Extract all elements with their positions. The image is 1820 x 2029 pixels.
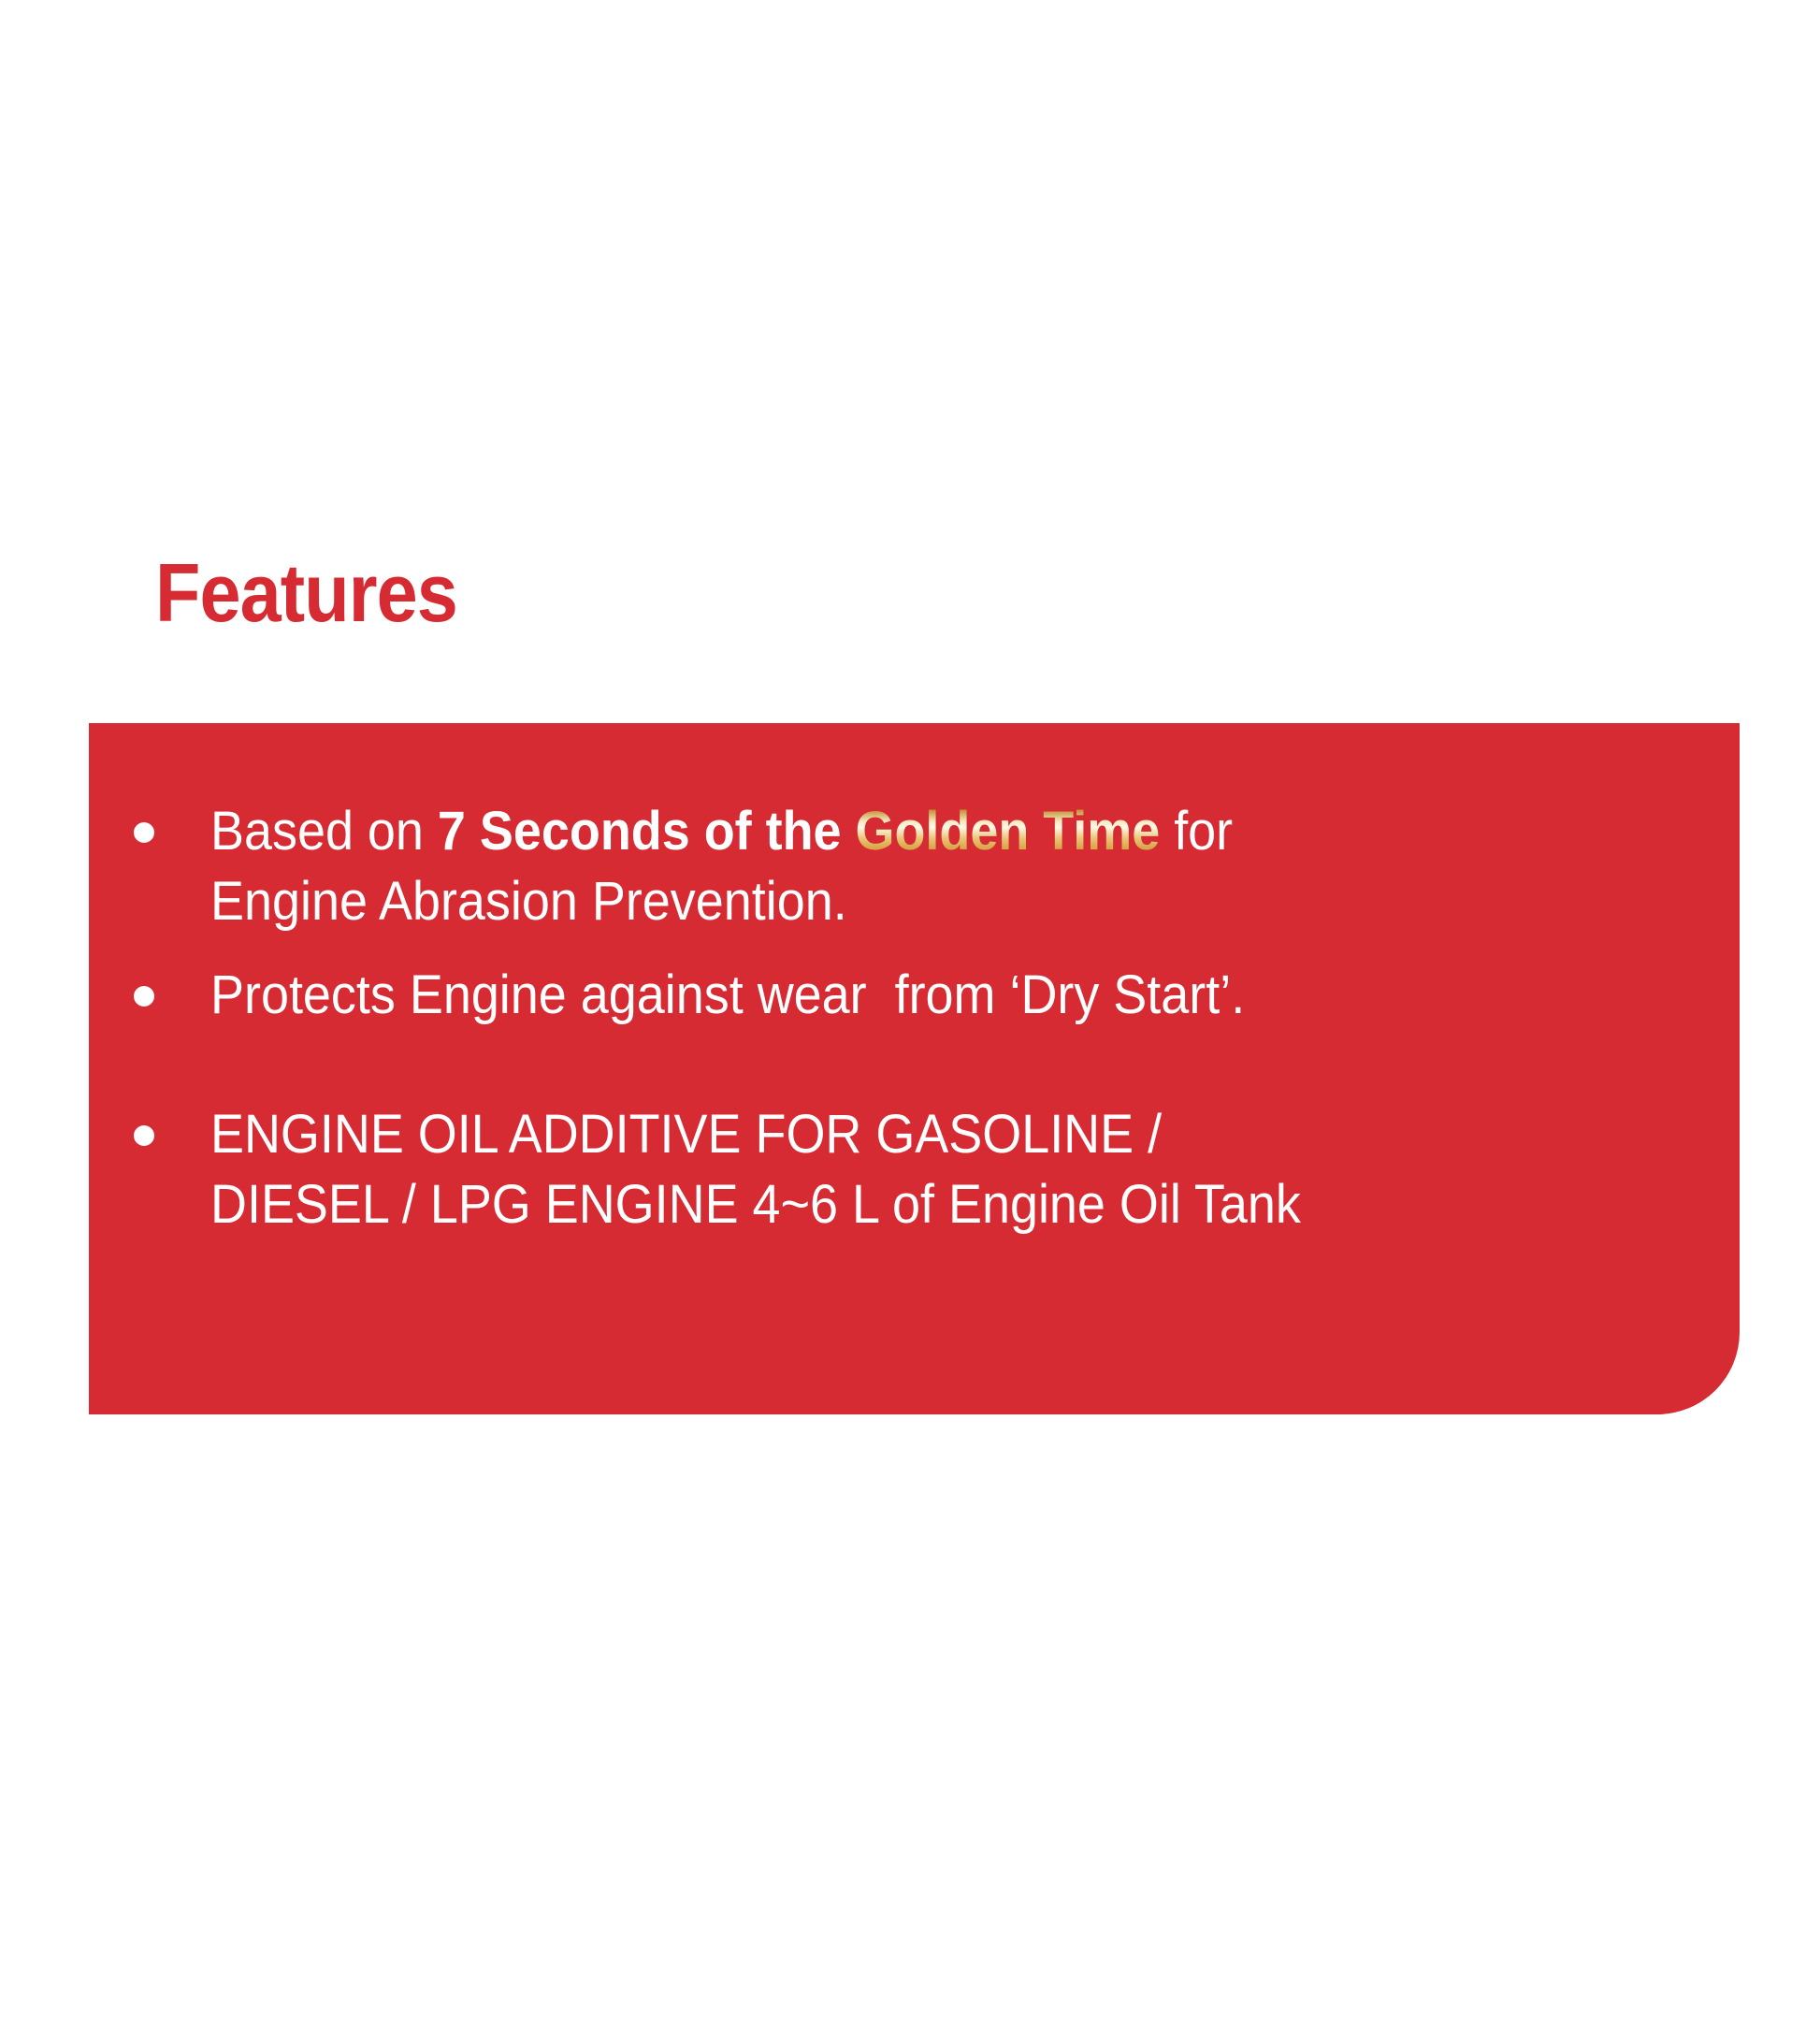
bullet-3-line1: ENGINE OIL ADDITIVE FOR GASOLINE / — [210, 1104, 1162, 1165]
list-item-text: Protects Engine against wear from ‘Dry S… — [210, 960, 1601, 1030]
bullet-2-line1: Protects Engine against wear from ‘Dry S… — [210, 964, 1245, 1025]
feature-slide: Features Based on 7 Seconds of the Golde… — [0, 0, 1820, 2029]
list-item-text: Based on 7 Seconds of the Golden Time fo… — [210, 796, 1601, 936]
bullet-dot-icon — [134, 1125, 154, 1146]
page-title: Features — [155, 548, 457, 638]
bullet-dot-icon — [134, 986, 154, 1007]
bullet-1-prefix: Based on — [210, 801, 438, 862]
features-panel: Based on 7 Seconds of the Golden Time fo… — [89, 723, 1740, 1414]
bullet-dot-icon — [134, 822, 154, 843]
list-item-text: ENGINE OIL ADDITIVE FOR GASOLINE /DIESEL… — [210, 1099, 1601, 1239]
bullet-1-golden-time: Golden Time — [856, 801, 1161, 862]
bullet-3-line2: DIESEL / LPG ENGINE 4~6 L of Engine Oil … — [210, 1174, 1301, 1235]
bullet-1-bold: 7 Seconds of the — [438, 801, 856, 862]
bullet-1-suffix: for — [1160, 801, 1233, 862]
bullet-1-line2: Engine Abrasion Prevention. — [210, 871, 847, 932]
